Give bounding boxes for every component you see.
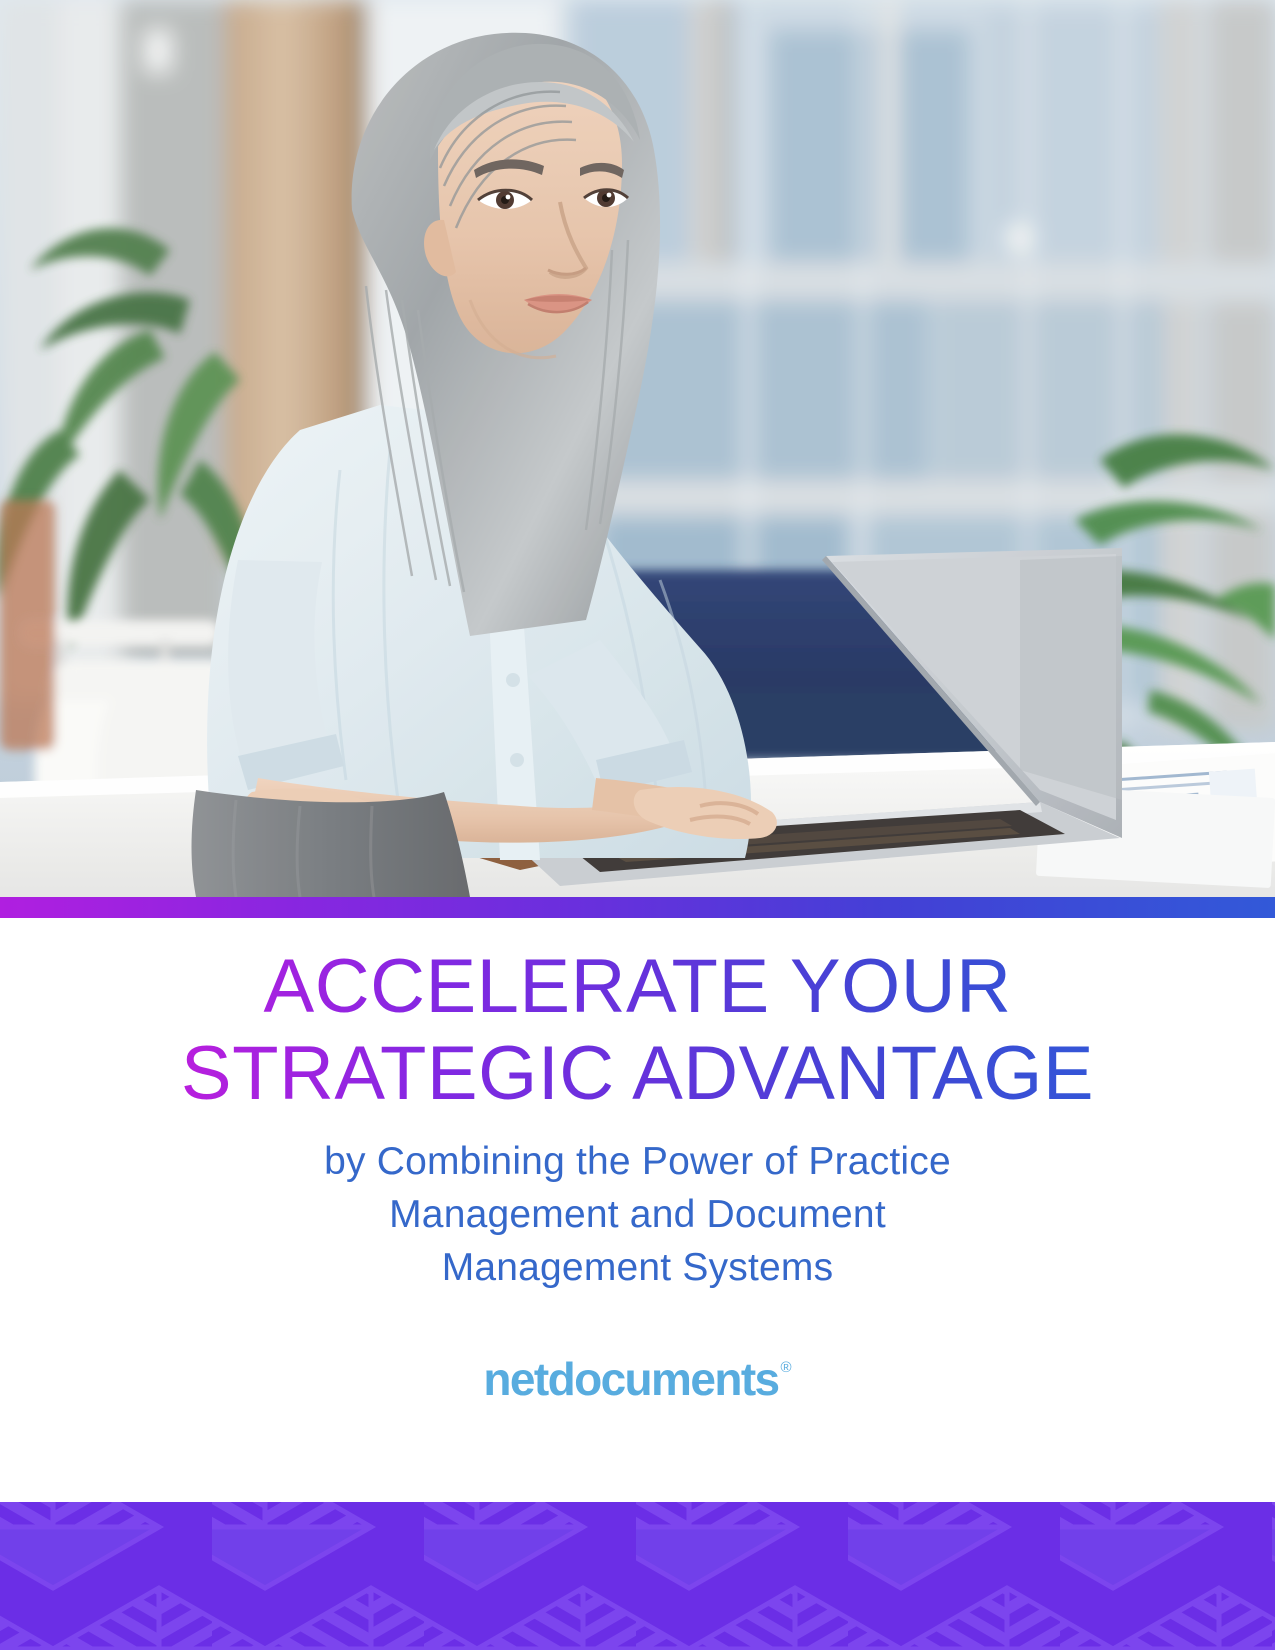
subtitle-line-2: Management and Document: [208, 1188, 1068, 1241]
subtitle-line-1: by Combining the Power of Practice: [208, 1135, 1068, 1188]
subtitle-line-3: Management Systems: [208, 1241, 1068, 1294]
cover-title-section: ACCELERATE YOUR STRATEGIC ADVANTAGE by C…: [0, 918, 1275, 1502]
title-line-2: STRATEGIC ADVANTAGE: [138, 1031, 1138, 1118]
netdocuments-wordmark: netdocuments: [483, 1356, 778, 1402]
netdocuments-logo: netdocuments ®: [483, 1356, 791, 1402]
gradient-divider-bar: [0, 897, 1275, 918]
hero-illustration: [0, 0, 1275, 897]
isometric-cube-pattern-band: [0, 1502, 1275, 1650]
cube-pattern-graphic: [0, 1502, 1275, 1650]
registered-trademark-icon: ®: [781, 1360, 792, 1375]
title-line-1: ACCELERATE YOUR: [138, 944, 1138, 1031]
hero-photograph: [0, 0, 1275, 897]
page-title: ACCELERATE YOUR STRATEGIC ADVANTAGE: [138, 944, 1138, 1117]
page-subtitle: by Combining the Power of Practice Manag…: [208, 1135, 1068, 1294]
